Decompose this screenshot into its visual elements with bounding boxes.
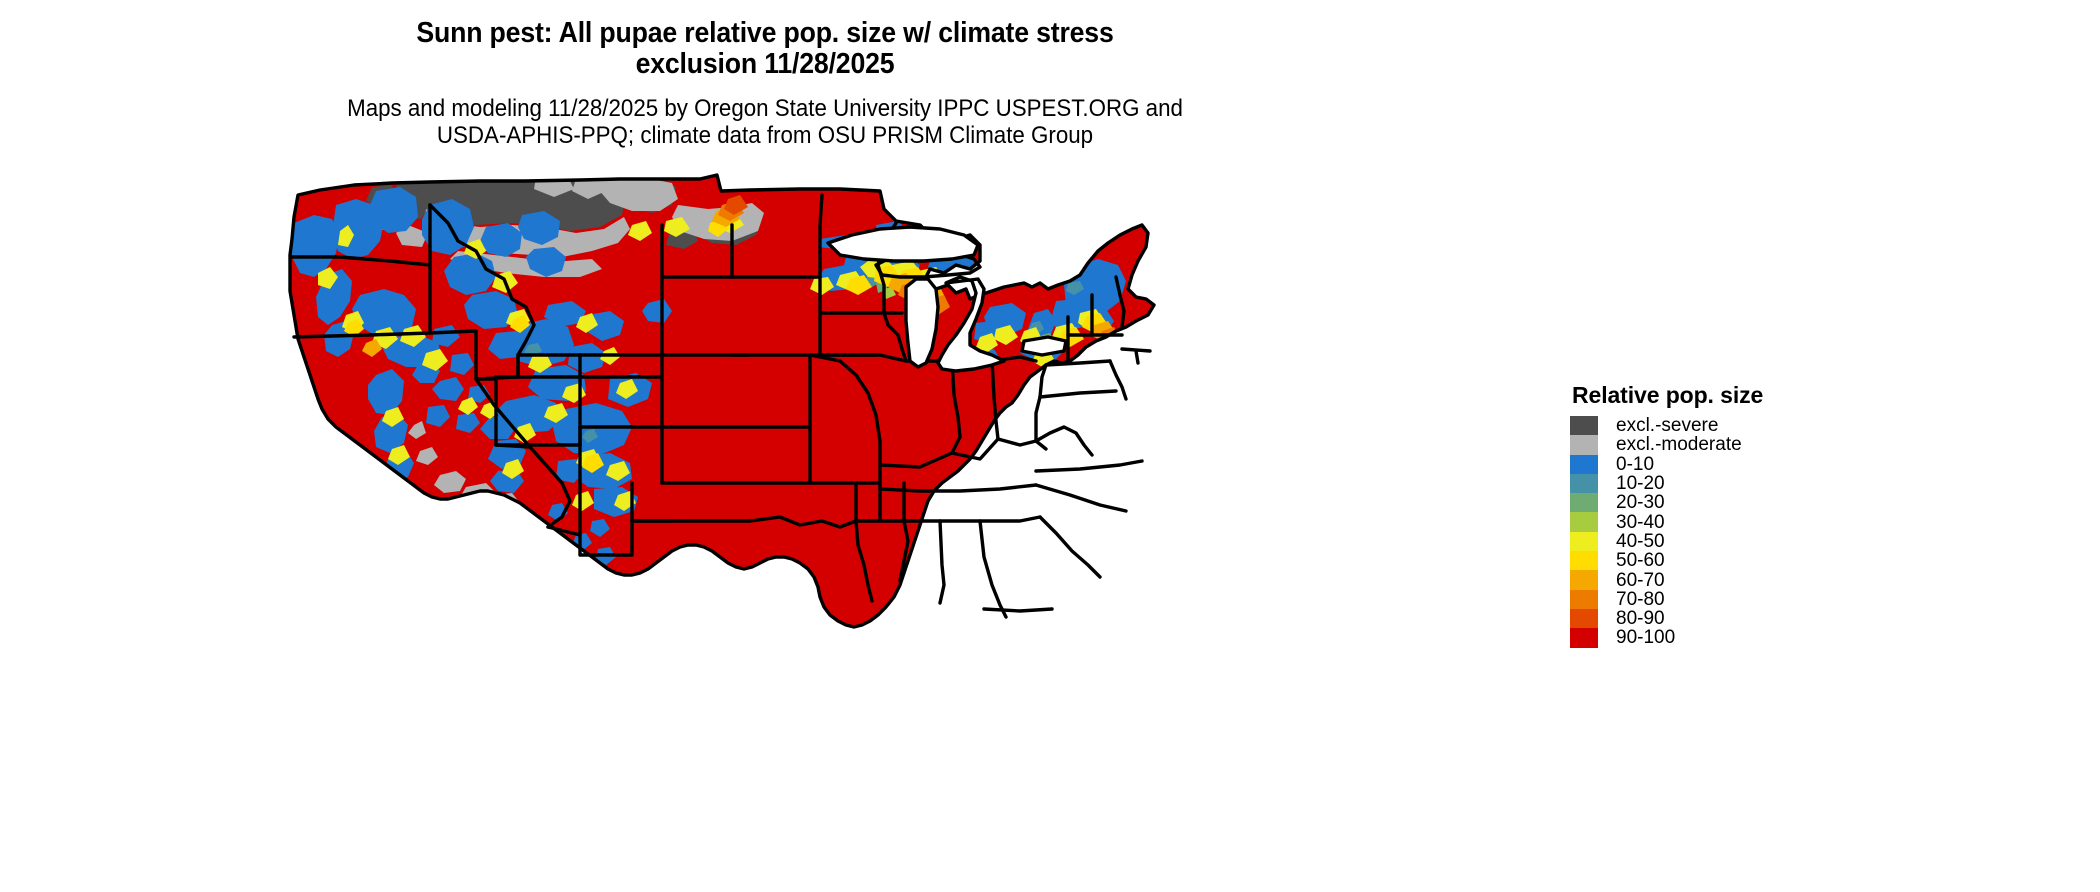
legend-swatch	[1570, 455, 1598, 474]
legend-swatch	[1570, 493, 1598, 512]
legend-row[interactable]: 30-40	[1570, 512, 1870, 531]
legend-swatch	[1570, 609, 1598, 628]
legend-title: Relative pop. size	[1572, 382, 1870, 409]
legend-swatch	[1570, 474, 1598, 493]
map-svg	[280, 165, 1180, 675]
page-subtitle: Maps and modeling 11/28/2025 by Oregon S…	[54, 96, 1477, 150]
legend-row[interactable]: 20-30	[1570, 493, 1870, 512]
legend-label: 60-70	[1616, 571, 1665, 590]
legend-swatch	[1570, 628, 1598, 647]
legend-label: excl.-severe	[1616, 416, 1718, 435]
legend-label: 10-20	[1616, 474, 1665, 493]
legend-swatch	[1570, 590, 1598, 609]
legend-row[interactable]: 10-20	[1570, 474, 1870, 493]
legend-label: 20-30	[1616, 493, 1665, 512]
legend-label: 80-90	[1616, 609, 1665, 628]
choropleth-map[interactable]	[280, 165, 1180, 675]
legend-label: 50-60	[1616, 551, 1665, 570]
legend-label: 0-10	[1616, 455, 1654, 474]
legend-row[interactable]: 70-80	[1570, 590, 1870, 609]
legend-row[interactable]: excl.-moderate	[1570, 435, 1870, 454]
chart-header: Sunn pest: All pupae relative pop. size …	[0, 0, 1530, 150]
legend-row[interactable]: 80-90	[1570, 609, 1870, 628]
legend-row[interactable]: 90-100	[1570, 628, 1870, 647]
legend-label: 70-80	[1616, 590, 1665, 609]
legend-swatch	[1570, 532, 1598, 551]
legend-swatch	[1570, 435, 1598, 454]
legend-swatch	[1570, 570, 1598, 589]
map-legend: Relative pop. size excl.-severeexcl.-mod…	[1570, 382, 1870, 648]
legend-label: 30-40	[1616, 513, 1665, 532]
legend-row[interactable]: excl.-severe	[1570, 416, 1870, 435]
legend-row[interactable]: 40-50	[1570, 532, 1870, 551]
legend-row[interactable]: 0-10	[1570, 455, 1870, 474]
legend-label: excl.-moderate	[1616, 435, 1742, 454]
legend-label: 90-100	[1616, 628, 1675, 647]
legend-swatch	[1570, 551, 1598, 570]
page-title: Sunn pest: All pupae relative pop. size …	[61, 18, 1469, 80]
legend-items: excl.-severeexcl.-moderate0-1010-2020-30…	[1570, 416, 1870, 648]
legend-swatch	[1570, 416, 1598, 435]
legend-row[interactable]: 50-60	[1570, 551, 1870, 570]
legend-label: 40-50	[1616, 532, 1665, 551]
legend-row[interactable]: 60-70	[1570, 570, 1870, 589]
legend-swatch	[1570, 512, 1598, 531]
